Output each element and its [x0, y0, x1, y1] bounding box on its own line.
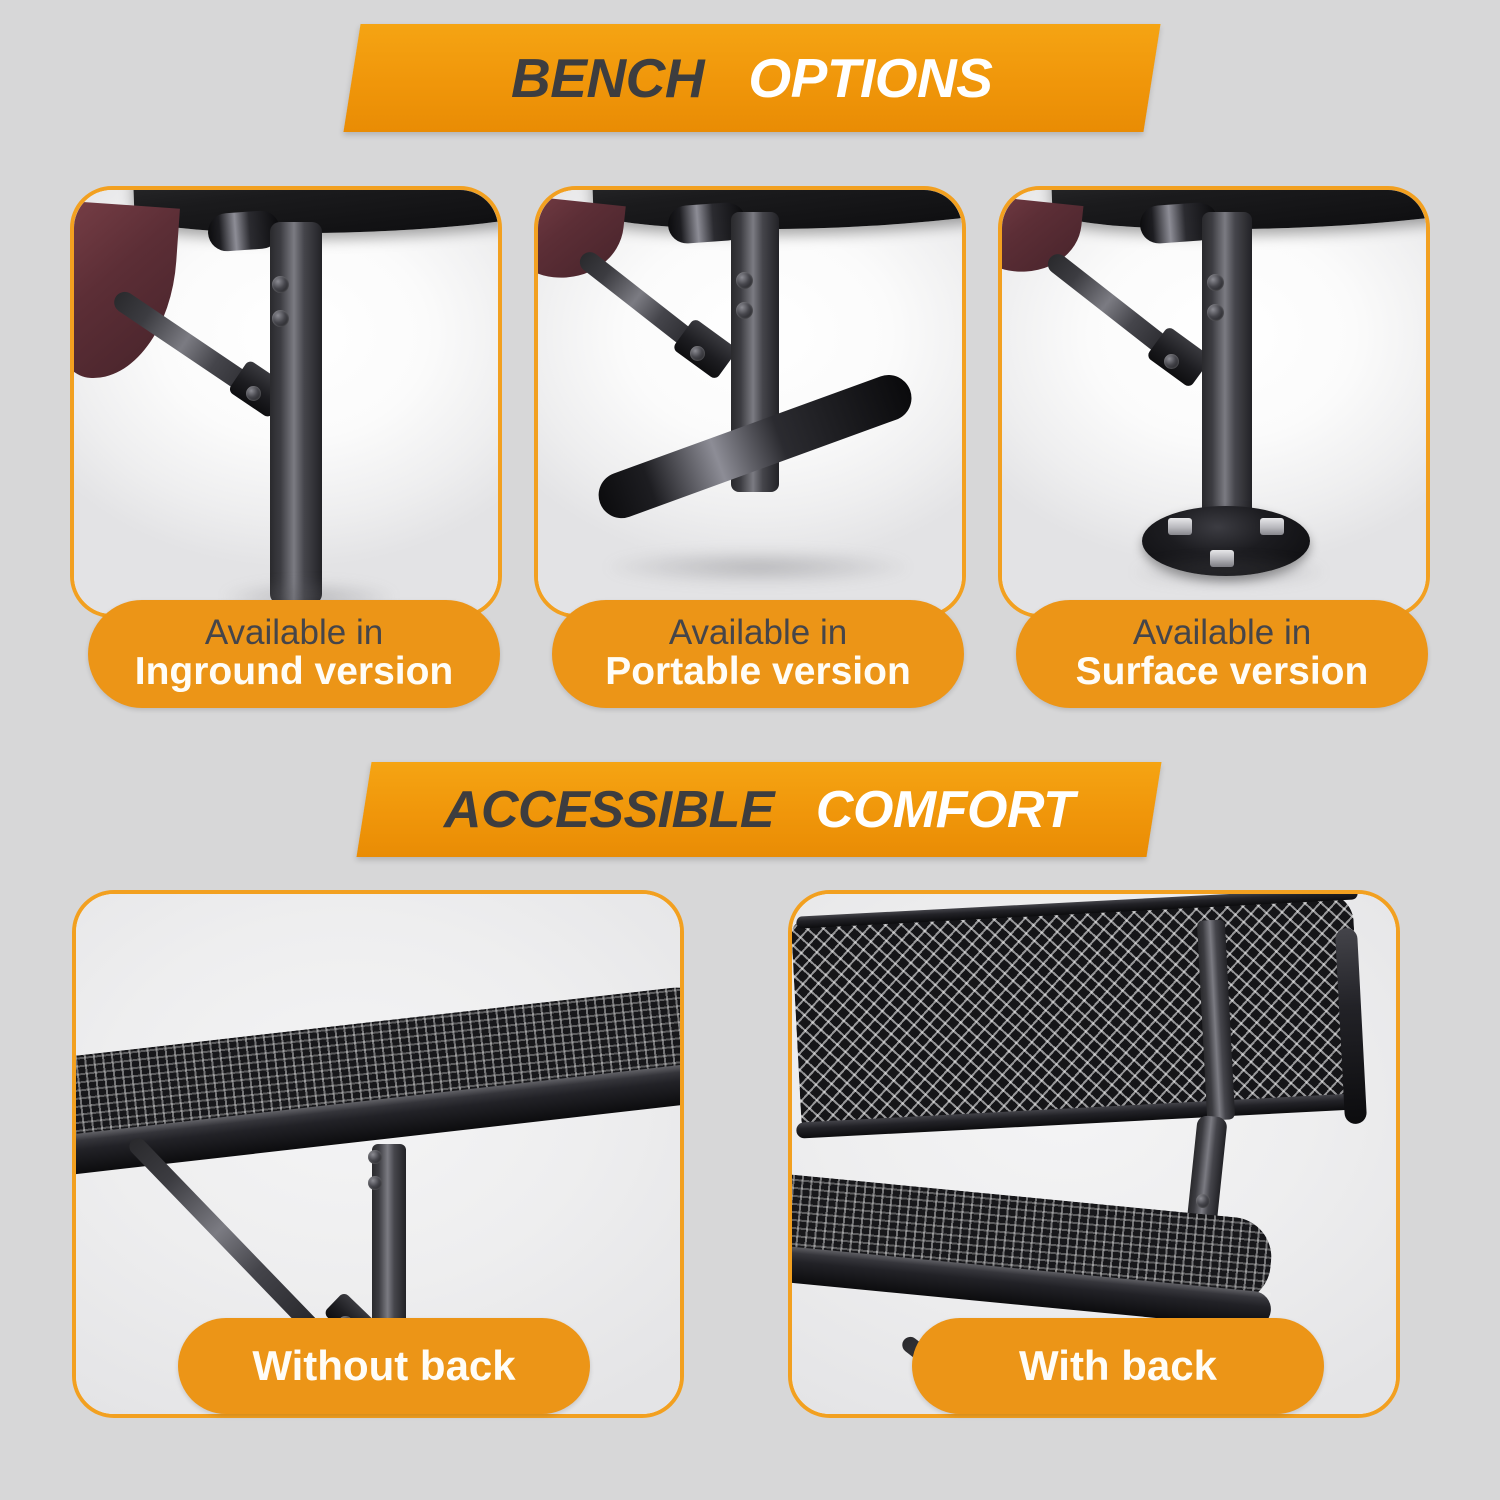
pill-without-back: Without back — [178, 1318, 590, 1414]
floor-shadow — [608, 550, 908, 584]
bench-leg-inground-photo — [74, 190, 498, 614]
card-surface-version[interactable] — [998, 186, 1430, 618]
pill-portable-line1: Available in — [669, 615, 847, 651]
pill-inground-line2: Inground version — [135, 651, 454, 692]
banner-comfort-light-text: COMFORT — [816, 781, 1074, 839]
pill-inground-line1: Available in — [205, 615, 383, 651]
vertical-leg-tube — [1202, 212, 1252, 524]
card-portable-version[interactable] — [534, 186, 966, 618]
brace-bolt — [246, 386, 261, 401]
banner-comfort-dark-text: ACCESSIBLE — [444, 781, 774, 839]
banner-bench-dark-text: BENCH — [511, 47, 704, 109]
pill-portable-line2: Portable version — [605, 651, 911, 692]
pill-surface-line2: Surface version — [1076, 651, 1369, 692]
leg-bolt-lower — [368, 1176, 382, 1190]
brace-bolt — [1164, 354, 1179, 369]
section-banner-accessible-comfort: ACCESSIBLE COMFORT — [356, 762, 1161, 857]
bench-leg-surface-mount-photo — [1002, 190, 1426, 614]
leg-bolt-upper — [368, 1150, 382, 1164]
leg-bolt-lower — [736, 302, 753, 319]
anchor-bolt-right — [1260, 518, 1284, 535]
pill-with-back: With back — [912, 1318, 1324, 1414]
pill-surface-line1: Available in — [1133, 615, 1311, 651]
pill-with-back-label: With back — [1019, 1344, 1217, 1388]
pill-inground-version: Available in Inground version — [88, 600, 500, 708]
backrest-arm-bolt — [1196, 1194, 1210, 1208]
banner-bench-light-text: OPTIONS — [749, 47, 993, 109]
leg-bolt-lower — [1207, 304, 1224, 321]
pill-portable-version: Available in Portable version — [552, 600, 964, 708]
leg-bolt-upper — [1207, 274, 1224, 291]
pill-surface-version: Available in Surface version — [1016, 600, 1428, 708]
leg-bolt-upper — [736, 272, 753, 289]
section-banner-bench-options: BENCH OPTIONS — [343, 24, 1160, 132]
bench-leg-portable-photo — [538, 190, 962, 614]
leg-bolt-upper — [272, 276, 289, 293]
infographic-page: BENCH OPTIONS Ava — [0, 0, 1500, 1500]
card-inground-version[interactable] — [70, 186, 502, 618]
anchor-bolt-left — [1168, 518, 1192, 535]
pill-without-back-label: Without back — [252, 1344, 515, 1388]
brace-bolt — [690, 346, 705, 361]
leg-bolt-lower — [272, 310, 289, 327]
floor-shadow — [1134, 558, 1324, 586]
